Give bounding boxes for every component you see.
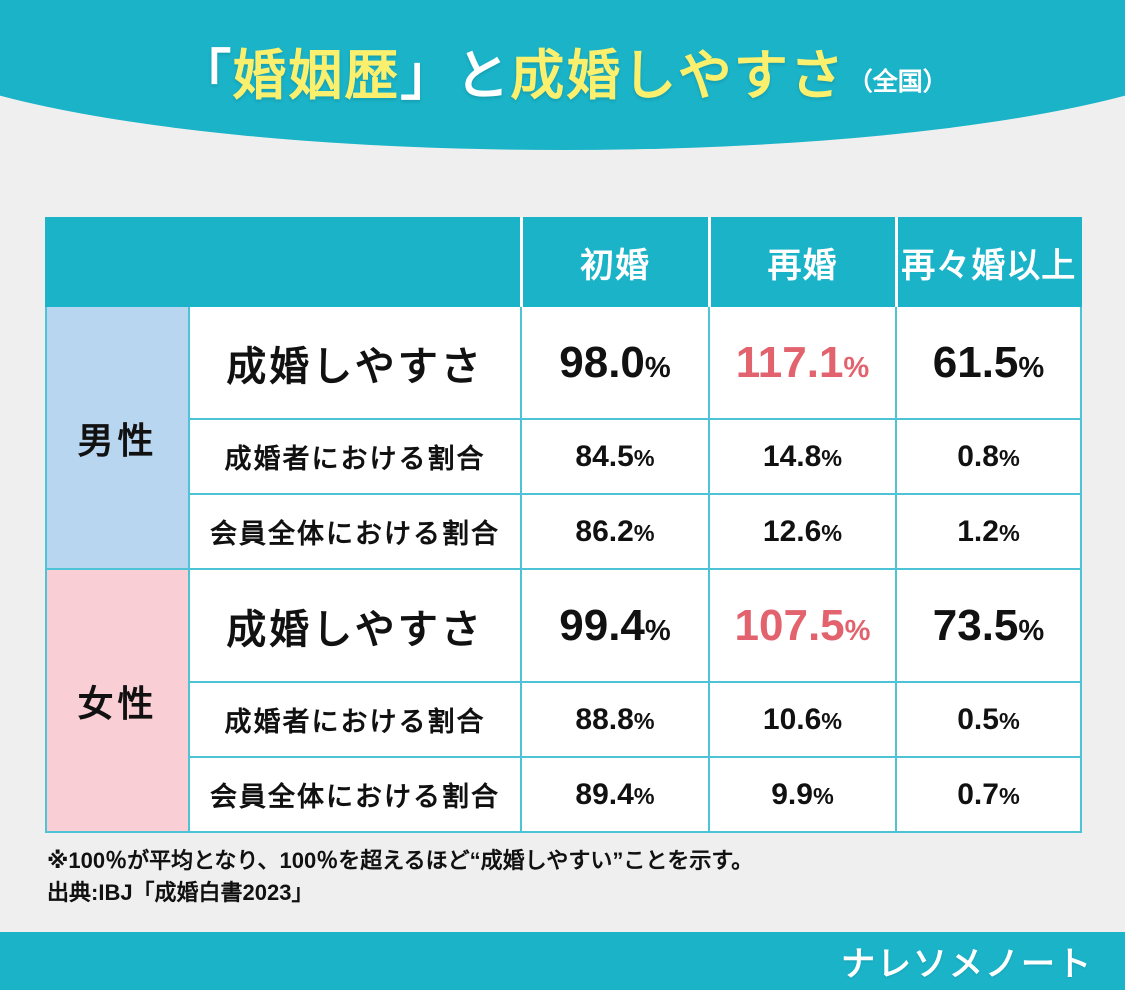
- table-row: 成婚者における割合 88.8% 10.6% 0.5%: [46, 682, 1081, 757]
- value-male-share-multiple: 0.8%: [896, 419, 1081, 494]
- brand-logo: ナレソメノート: [841, 937, 1093, 986]
- value-male-share-remarriage: 14.8%: [709, 419, 896, 494]
- column-header-remarriage: 再婚: [709, 218, 896, 306]
- footnote-line-average: ※100％が平均となり、100％を超えるほど“成婚しやすい”ことを示す。: [47, 845, 1047, 877]
- value-male-success-first: 98.0%: [521, 306, 709, 419]
- title-tail: 成婚しやすさ: [510, 31, 845, 110]
- title-connector: と: [455, 31, 510, 110]
- column-header-first-marriage: 初婚: [521, 218, 709, 306]
- title-bracket-open: 「: [177, 31, 232, 110]
- table-row: 会員全体における割合 89.4% 9.9% 0.7%: [46, 757, 1081, 832]
- metric-label-share-of-successful-male: 成婚者における割合: [189, 419, 521, 494]
- metric-label-share-of-successful-female: 成婚者における割合: [189, 682, 521, 757]
- value-male-success-remarriage: 117.1%: [709, 306, 896, 419]
- data-table-container: 初婚 再婚 再々婚以上 男性 成婚しやすさ 98.0% 117.1% 61.5%…: [45, 217, 1080, 833]
- metric-label-success-rate-female: 成婚しやすさ: [189, 569, 521, 682]
- metric-label-success-rate-male: 成婚しやすさ: [189, 306, 521, 419]
- header-banner: 「 婚姻歴 」 と 成婚しやすさ （全国）: [0, 0, 1125, 168]
- gender-label-female: 女性: [46, 569, 189, 832]
- value-male-members-multiple: 1.2%: [896, 494, 1081, 569]
- value-female-members-first: 89.4%: [521, 757, 709, 832]
- value-female-members-remarriage: 9.9%: [709, 757, 896, 832]
- value-female-share-multiple: 0.5%: [896, 682, 1081, 757]
- title-scope-note: （全国）: [846, 62, 948, 98]
- value-male-success-multiple: 61.5%: [896, 306, 1081, 419]
- table-corner-cell: [46, 218, 521, 306]
- footnote: ※100％が平均となり、100％を超えるほど“成婚しやすい”ことを示す。 出典:…: [47, 845, 1047, 909]
- value-female-success-remarriage: 107.5%: [709, 569, 896, 682]
- value-male-share-first: 84.5%: [521, 419, 709, 494]
- column-header-multiple-remarriage: 再々婚以上: [896, 218, 1081, 306]
- header-title-area: 「 婚姻歴 」 と 成婚しやすさ （全国）: [0, 0, 1125, 140]
- value-female-success-multiple: 73.5%: [896, 569, 1081, 682]
- page-title: 「 婚姻歴 」 と 成婚しやすさ （全国）: [177, 31, 947, 110]
- table-row: 成婚者における割合 84.5% 14.8% 0.8%: [46, 419, 1081, 494]
- gender-label-male: 男性: [46, 306, 189, 569]
- table-row: 男性 成婚しやすさ 98.0% 117.1% 61.5%: [46, 306, 1081, 419]
- table-row: 会員全体における割合 86.2% 12.6% 1.2%: [46, 494, 1081, 569]
- value-female-share-first: 88.8%: [521, 682, 709, 757]
- value-male-members-first: 86.2%: [521, 494, 709, 569]
- value-female-success-first: 99.4%: [521, 569, 709, 682]
- metric-label-share-of-members-female: 会員全体における割合: [189, 757, 521, 832]
- value-male-members-remarriage: 12.6%: [709, 494, 896, 569]
- footer-bar: ナレソメノート: [0, 932, 1125, 990]
- marriage-history-table: 初婚 再婚 再々婚以上 男性 成婚しやすさ 98.0% 117.1% 61.5%…: [45, 217, 1082, 833]
- footnote-line-source: 出典:IBJ「成婚白書2023」: [47, 877, 1047, 909]
- title-bracket-close: 」: [400, 31, 455, 110]
- title-main: 婚姻歴: [232, 31, 400, 110]
- table-row: 女性 成婚しやすさ 99.4% 107.5% 73.5%: [46, 569, 1081, 682]
- table-header-row: 初婚 再婚 再々婚以上: [46, 218, 1081, 306]
- value-female-members-multiple: 0.7%: [896, 757, 1081, 832]
- metric-label-share-of-members-male: 会員全体における割合: [189, 494, 521, 569]
- value-female-share-remarriage: 10.6%: [709, 682, 896, 757]
